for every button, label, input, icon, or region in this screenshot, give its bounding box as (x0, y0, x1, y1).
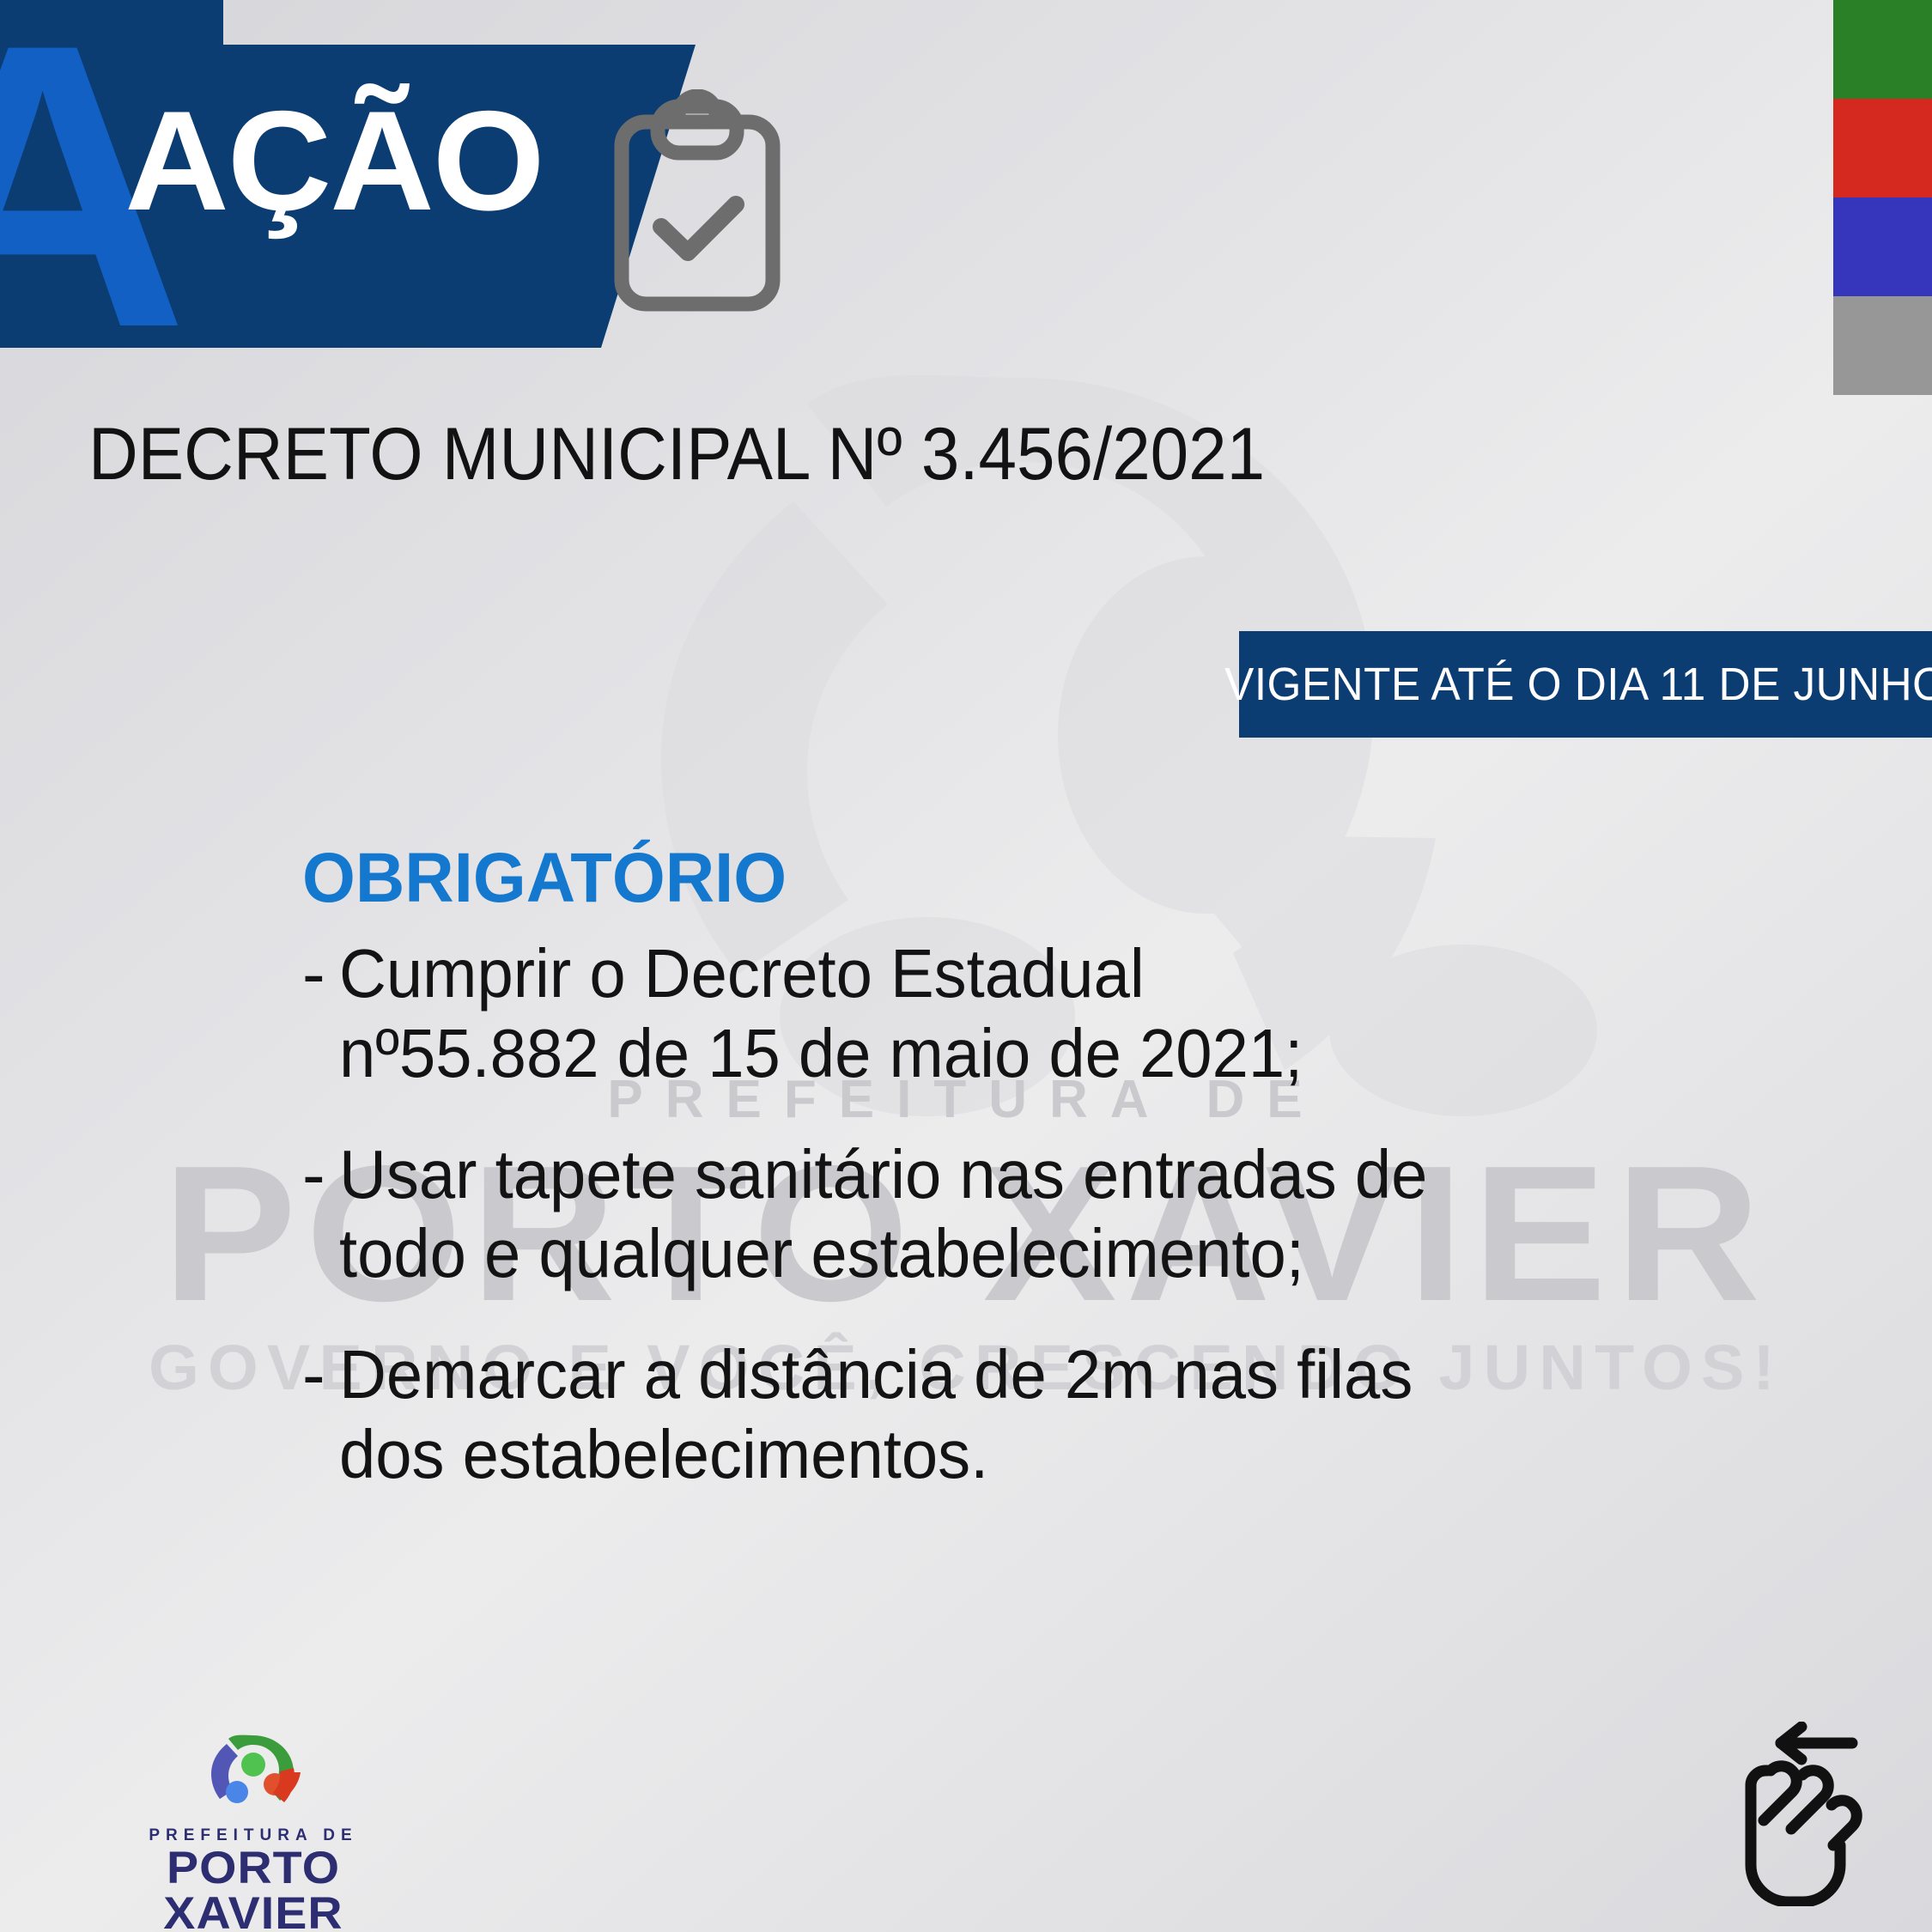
footer-logo: PREFEITURA DE PORTO XAVIER GOVERNO E VOC… (94, 1730, 412, 1915)
rule-item: - Usar tapete sanitário nas entradas de … (302, 1135, 1710, 1295)
header-banner: A AÇÃO (0, 0, 704, 348)
rule-dash: - (302, 1335, 325, 1495)
porto-xavier-logo-icon (189, 1730, 318, 1825)
color-bar-green (1833, 0, 1932, 99)
header-title: AÇÃO (125, 90, 543, 232)
rule-text: Demarcar a distância de 2m nas filas dos… (339, 1335, 1413, 1495)
color-bar-blue (1833, 197, 1932, 296)
rule-text: Usar tapete sanitário nas entradas de to… (339, 1135, 1427, 1295)
color-bar-stack (1833, 0, 1932, 395)
swipe-left-hand-icon (1717, 1722, 1898, 1906)
rule-dash: - (302, 934, 325, 1094)
validity-badge: VIGENTE ATÉ O DIA 11 DE JUNHO (1239, 631, 1932, 738)
validity-badge-label: VIGENTE ATÉ O DIA 11 DE JUNHO (1224, 658, 1932, 711)
rule-item: - Demarcar a distância de 2m nas filas d… (302, 1335, 1710, 1495)
rule-text: Cumprir o Decreto Estadual nº55.882 de 1… (339, 934, 1303, 1094)
section-heading: OBRIGATÓRIO (302, 841, 1668, 915)
rules-section: OBRIGATÓRIO - Cumprir o Decreto Estadual… (302, 841, 1710, 1536)
clipboard-check-icon (611, 89, 783, 314)
rule-item: - Cumprir o Decreto Estadual nº55.882 de… (302, 934, 1710, 1094)
poster-canvas: PREFEITURA DE PORTO XAVIER GOVERNO E VOC… (0, 0, 1932, 1932)
rule-dash: - (302, 1135, 325, 1295)
footer-city-label: PORTO XAVIER (87, 1845, 421, 1932)
color-bar-red (1833, 99, 1932, 197)
decree-title: DECRETO MUNICIPAL Nº 3.456/2021 (88, 412, 1265, 497)
color-bar-gray (1833, 296, 1932, 395)
